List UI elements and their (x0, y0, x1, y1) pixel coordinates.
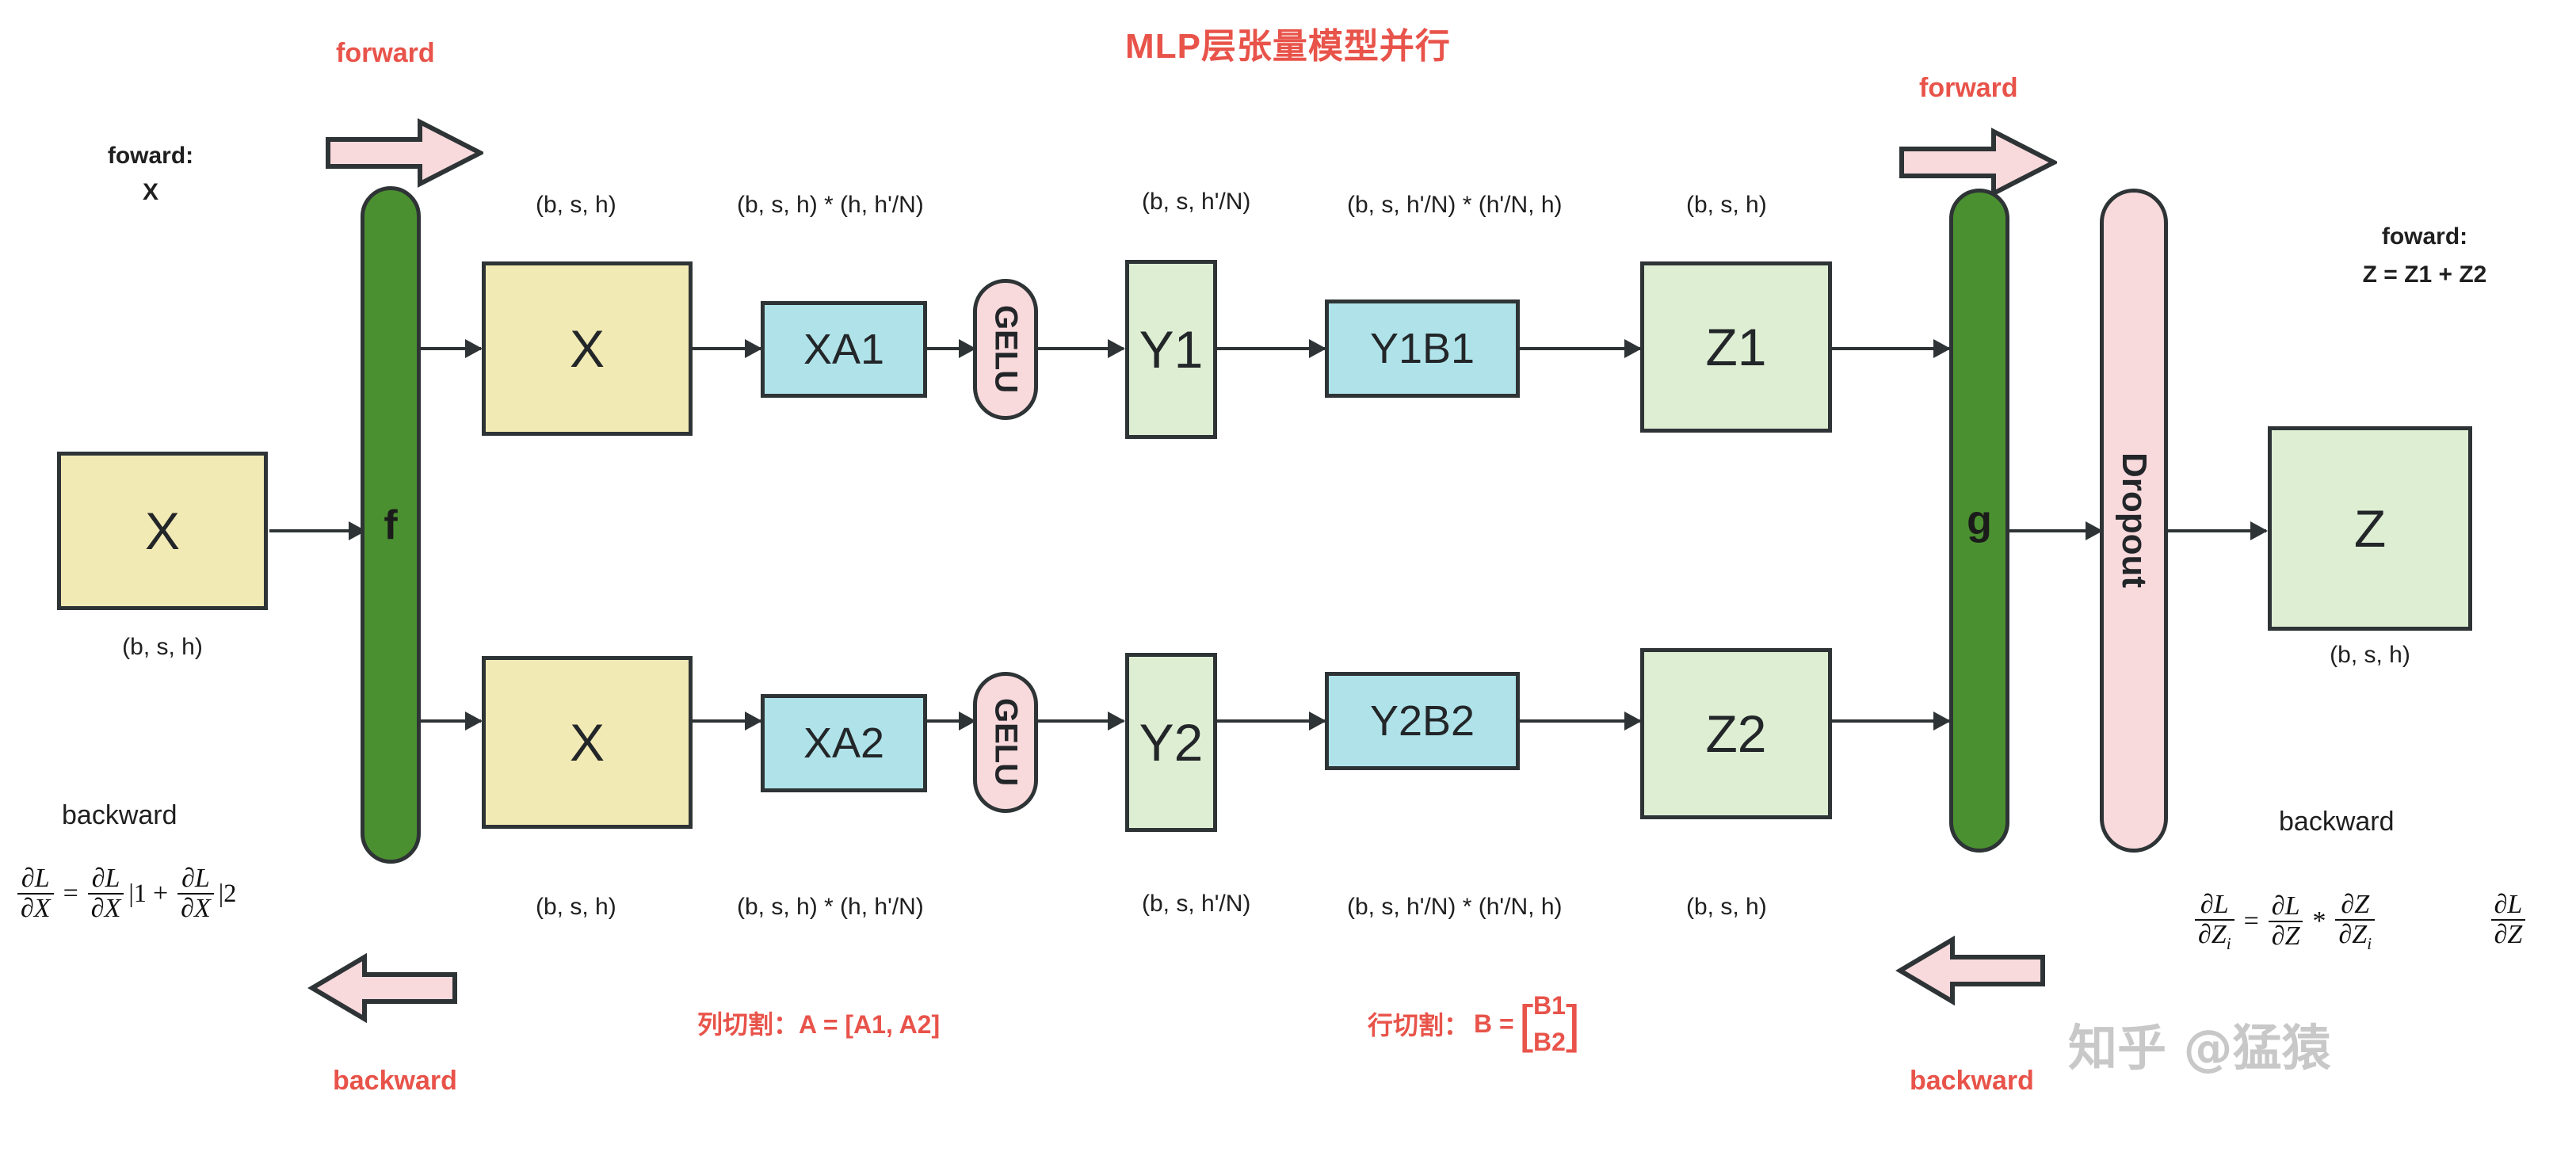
formula-right-lhs-num: ∂L (2200, 890, 2229, 919)
formula-right-op: * (2312, 906, 2326, 937)
row-split-bracket-open: [ (1519, 1003, 1533, 1045)
watermark: 知乎 @猛猿 (2068, 1008, 2331, 1079)
connector-row1-y1-to-y1b1 (1217, 347, 1325, 350)
shape-top-4: (b, s, h'/N) * (h'/N, h) (1347, 192, 1563, 219)
output-shape-label: (b, s, h) (2268, 642, 2472, 669)
shape-top-2: (b, s, h) * (h, h'/N) (737, 192, 924, 219)
dropout-block: Dropout (2100, 189, 2168, 853)
connector-row2-xa2-to-gelu (927, 719, 975, 723)
row2-node-gelu-label: GELU (988, 698, 1024, 786)
input-box-x-label: X (145, 501, 180, 561)
dropout-block-label: Dropout (2114, 452, 2154, 588)
forward-label-left: forward (336, 38, 435, 69)
formula-right-line2-den: ∂Z (2494, 920, 2523, 949)
connector-row2-x-to-xa2 (693, 719, 761, 723)
row1-node-gelu-label: GELU (988, 305, 1024, 393)
row-split-note-label: 行切割： (1368, 1005, 1469, 1042)
row1-node-y1-label: Y1 (1139, 319, 1204, 380)
row2-node-xa2: XA2 (761, 694, 927, 792)
connector-row2-y2b2-to-z2 (1520, 719, 1640, 723)
forward-note-output-line2: Z = Z1 + Z2 (2258, 261, 2576, 288)
formula-right-t1-num: ∂L (2272, 891, 2300, 921)
row1-node-z1: Z1 (1640, 261, 1832, 433)
backward-block-arrow-left (307, 952, 458, 1024)
shape-top-3: (b, s, h'/N) (1142, 189, 1250, 216)
row1-node-x: X (482, 261, 693, 436)
forward-block-arrow-left (325, 117, 483, 189)
row2-node-y2-label: Y2 (1139, 712, 1204, 773)
formula-left-t2-num: ∂L (181, 864, 210, 893)
allreduce-bar-f: f (361, 186, 421, 864)
formula-left-t2-sub: |2 (219, 879, 237, 908)
row2-node-z2-label: Z2 (1705, 704, 1766, 764)
formula-right-t1-den: ∂Z (2272, 921, 2300, 951)
backward-block-arrow-right (1895, 935, 2046, 1006)
forward-note-input-line2: X (55, 179, 246, 206)
row-split-note: 行切割： B = [ B1 B2 ] (1368, 987, 1580, 1061)
connector-row2-y2-to-y2b2 (1217, 719, 1325, 723)
row2-node-y2: Y2 (1125, 653, 1217, 832)
row2-node-x-label: X (570, 712, 605, 773)
shape-bottom-5: (b, s, h) (1686, 894, 1767, 921)
row2-node-xa2-label: XA2 (803, 719, 884, 768)
forward-note-input: foward: X (55, 143, 246, 206)
row1-node-xa1-label: XA1 (803, 325, 884, 374)
input-shape-label: (b, s, h) (57, 634, 268, 661)
backward-label-left: backward (333, 1066, 457, 1097)
row2-node-z2: Z2 (1640, 648, 1832, 819)
row1-node-xa1: XA1 (761, 301, 927, 398)
allreduce-bar-g-label: g (1967, 497, 1992, 544)
row-split-bracket-close: ] (1566, 1003, 1580, 1045)
formula-left-plus: + (153, 879, 168, 909)
backward-label-left-text: backward (62, 800, 177, 831)
formula-backward-left: ∂L ∂X = ∂L ∂X |1 + ∂L ∂X |2 (14, 864, 236, 922)
input-box-x: X (57, 452, 268, 610)
column-split-note-value: A = [A1, A2] (799, 1010, 940, 1039)
connector-f-to-row2 (421, 719, 481, 723)
formula-left-t1-den: ∂X (91, 894, 121, 923)
output-box-z-label: Z (2354, 498, 2386, 559)
row1-node-gelu: GELU (973, 279, 1038, 420)
shape-bottom-3: (b, s, h'/N) (1142, 891, 1250, 918)
forward-note-input-line1: foward: (55, 143, 246, 170)
connector-row1-xa1-to-gelu (927, 347, 975, 350)
connector-x-to-f (269, 529, 364, 532)
backward-label-right-text: backward (2279, 807, 2395, 837)
connector-row2-z2-to-g (1832, 719, 1949, 723)
row2-node-y2b2-label: Y2B2 (1370, 696, 1475, 746)
formula-right-line2-num: ∂L (2494, 890, 2523, 919)
forward-note-output: foward: Z = Z1 + Z2 (2258, 223, 2576, 288)
shape-top-1: (b, s, h) (536, 192, 616, 219)
formula-right-lhs-den-sub: i (2227, 933, 2231, 952)
row1-node-x-label: X (570, 319, 605, 379)
formula-right-t2-num: ∂Z (2341, 890, 2369, 919)
formula-right-t2-den-sub: i (2367, 933, 2372, 952)
row2-node-gelu: GELU (973, 672, 1038, 813)
column-split-note: 列切割：A = [A1, A2] (697, 1005, 940, 1041)
forward-note-output-line1: foward: (2258, 223, 2576, 250)
connector-g-to-dropout (2009, 529, 2101, 532)
allreduce-bar-g: g (1949, 189, 2009, 853)
shape-bottom-4: (b, s, h'/N) * (h'/N, h) (1347, 894, 1563, 921)
formula-right-lhs-den: ∂Z (2198, 920, 2227, 949)
formula-left-t2-den: ∂X (181, 894, 211, 923)
column-split-note-label: 列切割： (697, 1010, 799, 1039)
formula-left-lhs-num: ∂L (21, 864, 50, 893)
connector-row1-gelu-to-y1 (1038, 347, 1124, 350)
connector-row1-x-to-xa1 (693, 347, 761, 350)
shape-top-5: (b, s, h) (1686, 192, 1767, 219)
connector-row1-y1b1-to-z1 (1520, 347, 1640, 350)
row1-node-y1: Y1 (1125, 260, 1217, 439)
formula-left-lhs-den: ∂X (21, 894, 51, 923)
output-box-z: Z (2268, 426, 2472, 631)
formula-left-t1-sub: |1 (128, 879, 147, 908)
row1-node-y1b1: Y1B1 (1325, 299, 1520, 398)
row-split-note-row1: B1 (1533, 987, 1566, 1024)
row-split-note-prefix: B = (1474, 1009, 1514, 1039)
forward-block-arrow-right (1899, 127, 2057, 198)
row-split-note-row2: B2 (1533, 1024, 1566, 1060)
row1-node-z1-label: Z1 (1705, 317, 1766, 377)
row1-node-y1b1-label: Y1B1 (1370, 324, 1475, 373)
forward-label-right: forward (1919, 73, 2018, 104)
diagram-canvas: MLP层张量模型并行 forward foward: X forward fow… (0, 0, 2576, 1156)
formula-backward-right: ∂L ∂Zi = ∂L ∂Z * ∂Z ∂Zi ∂L ∂Z (2192, 889, 2528, 952)
row2-node-x: X (482, 656, 693, 829)
formula-right-t2-den: ∂Z (2338, 920, 2367, 949)
shape-bottom-1: (b, s, h) (536, 894, 616, 921)
formula-right-eq: = (2244, 906, 2259, 937)
connector-row1-z1-to-g (1832, 347, 1949, 350)
formula-left-eq: = (63, 879, 78, 909)
row2-node-y2b2: Y2B2 (1325, 672, 1520, 770)
allreduce-bar-f-label: f (384, 502, 397, 549)
shape-bottom-2: (b, s, h) * (h, h'/N) (737, 894, 924, 921)
backward-label-right: backward (1910, 1066, 2034, 1097)
connector-row2-gelu-to-y2 (1038, 719, 1124, 723)
connector-dropout-to-z (2168, 529, 2266, 532)
formula-left-t1-num: ∂L (92, 864, 120, 893)
connector-f-to-row1 (421, 347, 481, 350)
